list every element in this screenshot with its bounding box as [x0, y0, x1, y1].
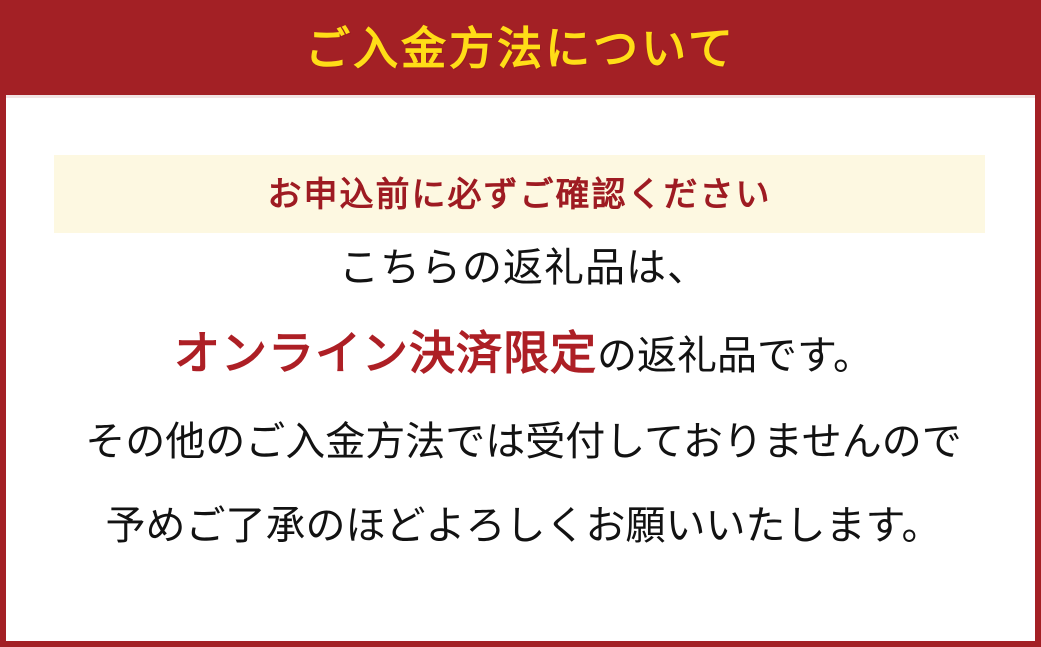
- body-line-1: こちらの返礼品は、: [12, 248, 1035, 288]
- subtitle-highlight-band: お申込前に必ずご確認ください: [54, 155, 985, 233]
- header-divider: [0, 95, 1041, 98]
- payment-method-notice-card: ご入金方法について お申込前に必ずご確認ください こちらの返礼品は、 オンライン…: [0, 0, 1041, 647]
- online-payment-only-emphasis: オンライン決済限定: [174, 326, 597, 380]
- body-line-4: 予めご了承のほどよろしくお願いいたします。: [12, 506, 1035, 546]
- body-copy: こちらの返礼品は、 オンライン決済限定の返礼品です。 その他のご入金方法では受付…: [12, 248, 1035, 546]
- page-title: ご入金方法について: [305, 26, 736, 71]
- body-line-2-remainder: の返礼品です。: [597, 333, 873, 379]
- body-line-3: その他のご入金方法では受付しておりませんので: [12, 422, 1035, 462]
- subtitle-text: お申込前に必ずご確認ください: [268, 178, 772, 212]
- header-banner: ご入金方法について: [0, 0, 1041, 95]
- body-line-2: オンライン決済限定の返礼品です。: [12, 330, 1035, 376]
